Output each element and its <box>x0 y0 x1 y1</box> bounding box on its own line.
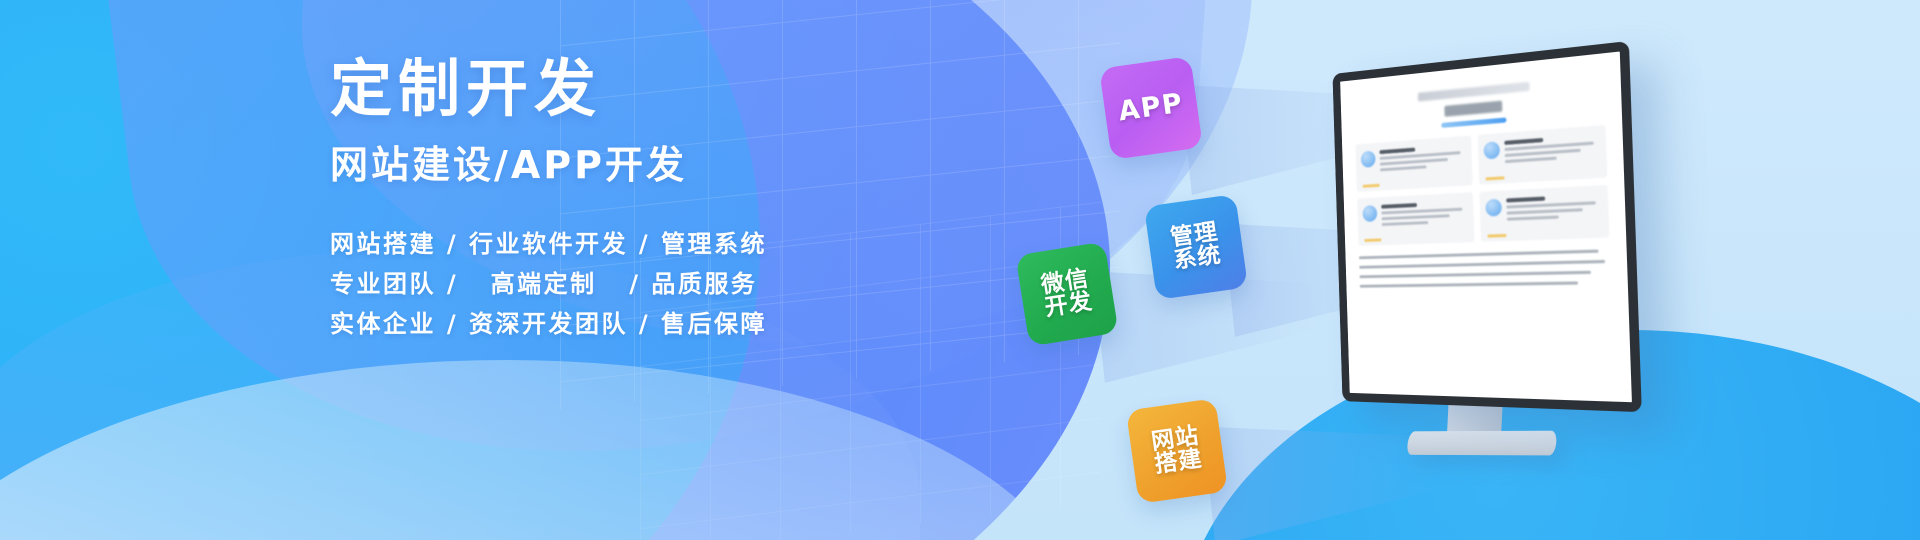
website-tile-label: 网站 搭建 <box>1150 424 1204 477</box>
feature-line-1: 网站搭建 / 行业软件开发 / 管理系统 <box>330 224 950 264</box>
screen-card-icon <box>1485 199 1502 217</box>
screen-card-text <box>1506 192 1603 235</box>
promo-banner: 定制开发 网站建设/APP开发 网站搭建 / 行业软件开发 / 管理系统 专业团… <box>0 0 1920 540</box>
feature-line-2: 专业团队 / 高端定制 / 品质服务 <box>330 264 950 304</box>
management-tile-label: 管理 系统 <box>1169 220 1223 273</box>
screen-card <box>1477 125 1607 185</box>
screen-card-icon <box>1362 205 1377 222</box>
monitor-stand-base <box>1406 431 1557 456</box>
wechat-tile-icon[interactable]: 微信 开发 <box>1015 242 1118 347</box>
monitor-body <box>1332 41 1641 412</box>
screen-card <box>1479 185 1609 242</box>
management-tile-icon[interactable]: 管理 系统 <box>1144 194 1248 300</box>
screen-divider <box>1441 117 1506 127</box>
feature-list: 网站搭建 / 行业软件开发 / 管理系统 专业团队 / 高端定制 / 品质服务 … <box>330 224 950 344</box>
screen-card <box>1357 192 1474 246</box>
screen-card-icon <box>1483 141 1500 159</box>
screen-card-text <box>1379 142 1466 185</box>
banner-subtitle: 网站建设/APP开发 <box>330 146 950 184</box>
copy-block: 定制开发 网站建设/APP开发 网站搭建 / 行业软件开发 / 管理系统 专业团… <box>330 58 950 344</box>
screen-card-icon <box>1361 151 1376 168</box>
wechat-tile-label: 微信 开发 <box>1040 267 1095 321</box>
screen-card-text <box>1381 198 1468 239</box>
screen-card <box>1355 135 1472 191</box>
feature-line-3: 实体企业 / 资深开发团队 / 售后保障 <box>330 304 950 344</box>
screen-subheading-placeholder <box>1444 101 1502 117</box>
screen-paragraph-placeholder <box>1359 249 1611 287</box>
monitor-screen <box>1340 52 1632 403</box>
screen-card-text <box>1504 132 1601 178</box>
banner-title: 定制开发 <box>330 58 950 120</box>
screen-card-grid <box>1355 125 1609 246</box>
desktop-monitor-illustration <box>1318 58 1648 478</box>
app-tile-label: APP <box>1117 90 1185 126</box>
screen-heading-placeholder <box>1418 82 1530 102</box>
website-tile-icon[interactable]: 网站 搭建 <box>1126 398 1228 504</box>
app-tile-icon[interactable]: APP <box>1099 56 1203 160</box>
